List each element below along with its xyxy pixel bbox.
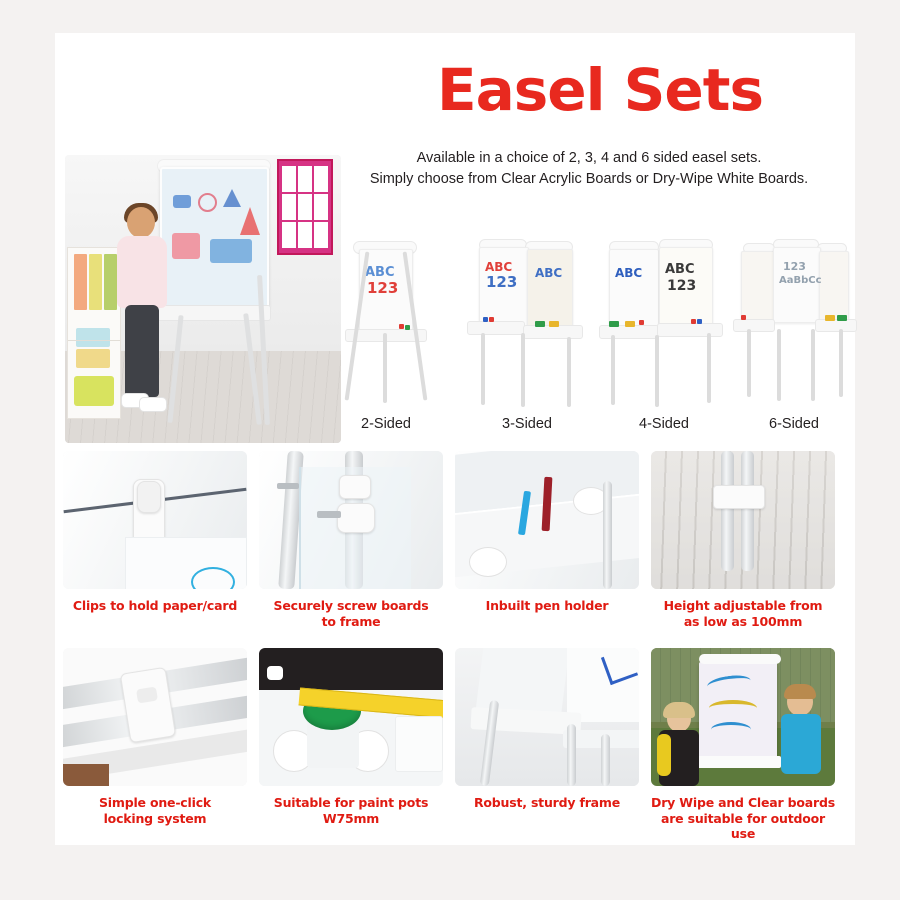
feature-caption: Dry Wipe and Clear boards are suitable f… <box>651 795 835 842</box>
easel-leg <box>567 337 571 407</box>
child-hair <box>784 684 816 699</box>
paint-stroke <box>711 722 751 737</box>
outdoor-child-right <box>779 688 825 786</box>
hero-wall-poster <box>277 159 333 255</box>
feature-photo <box>259 648 443 786</box>
easel-tray <box>599 325 659 339</box>
feature-caption: Robust, sturdy frame <box>455 795 639 811</box>
easel-leg <box>611 335 615 405</box>
paint-pot-hole <box>469 547 507 577</box>
feature-photo <box>63 451 247 589</box>
feature-screw-boards[interactable]: Securely screw boards to frame <box>259 451 443 629</box>
subtitle-line-1: Available in a choice of 2, 3, 4 and 6 s… <box>323 148 855 169</box>
easel-leg <box>383 333 387 403</box>
tray-compartment <box>395 716 443 772</box>
easel-tray <box>697 756 781 768</box>
board-text-123: 123 <box>486 275 517 291</box>
hero-file-box <box>74 254 87 310</box>
variant-image: ABC 123 ABC <box>465 221 589 416</box>
page-subtitle: Available in a choice of 2, 3, 4 and 6 s… <box>323 148 855 190</box>
paper-clip-grip <box>137 481 161 513</box>
variant-label: 3-Sided <box>465 416 589 432</box>
easel-tray <box>815 319 857 332</box>
board-text-side: ABC <box>535 267 562 280</box>
paint-stroke <box>709 700 757 716</box>
wood-detail <box>63 764 109 786</box>
hero-storage-tray <box>76 349 110 368</box>
board-text-aabbcc: AaBbCc <box>779 276 822 287</box>
easel-accessory <box>549 321 559 327</box>
hero-child <box>113 207 173 422</box>
board-text-abc: ABC <box>365 266 395 280</box>
board-text-123: 123 <box>667 279 696 294</box>
feature-caption: Securely screw boards to frame <box>259 598 443 629</box>
easel-accessory <box>483 317 488 322</box>
feature-clips[interactable]: Clips to hold paper/card <box>63 451 247 614</box>
feature-photo <box>651 648 835 786</box>
hero-easel-tray <box>157 305 271 321</box>
board-text-abc: ABC <box>485 261 512 274</box>
drawing-on-paper <box>191 567 235 589</box>
hero-section: Easel Sets Available in a choice of 2, 3… <box>55 33 855 453</box>
easel-accessory <box>625 321 635 327</box>
child-sleeve <box>657 734 671 776</box>
easel-accessory <box>825 315 835 321</box>
child-trousers <box>125 305 159 397</box>
hero-photo <box>65 155 341 443</box>
feature-photo <box>455 451 639 589</box>
feature-grid: Clips to hold paper/card <box>55 451 855 845</box>
easel-leg <box>721 451 734 571</box>
board-text-abc-dark: ABC <box>665 263 695 277</box>
easel-accessory <box>405 325 410 330</box>
screw-knob <box>337 503 375 533</box>
dark-board-edge <box>259 648 443 690</box>
feature-paint-pots[interactable]: Suitable for paint pots W75mm <box>259 648 443 826</box>
easel-accessory <box>639 320 644 325</box>
board-text-abc: ABC <box>615 267 642 280</box>
easel-accessory <box>741 315 746 320</box>
easel-tray <box>467 321 525 335</box>
easel-leg <box>521 333 525 407</box>
easel-leg <box>603 481 612 589</box>
child-head <box>127 207 155 238</box>
easel-accessory <box>837 315 847 321</box>
easel-top-bar <box>699 654 781 664</box>
variant-2-sided[interactable]: ABC 123 2-Sided <box>331 221 441 432</box>
variant-label: 2-Sided <box>331 416 441 432</box>
easel-leg <box>567 724 576 786</box>
hero-storage-tray <box>76 328 110 347</box>
height-adjust-collar <box>713 485 765 509</box>
variant-4-sided[interactable]: ABC ABC 123 4-Sided <box>599 221 729 432</box>
screw-thread <box>317 511 341 518</box>
board-mark <box>267 666 283 680</box>
easel-board <box>819 251 849 321</box>
product-feature-page: Easel Sets Available in a choice of 2, 3… <box>0 0 900 900</box>
variant-image: ABC ABC 123 <box>599 221 729 416</box>
feature-height-adjustable[interactable]: Height adjustable from as low as 100mm <box>651 451 835 629</box>
child-shirt <box>117 236 167 308</box>
feature-row-1: Clips to hold paper/card <box>55 451 855 648</box>
board-text-123: 123 <box>367 281 398 297</box>
feature-outdoor-use[interactable]: Dry Wipe and Clear boards are suitable f… <box>651 648 835 842</box>
variant-3-sided[interactable]: ABC 123 ABC 3-Sided <box>465 221 589 432</box>
variant-label: 6-Sided <box>733 416 855 432</box>
content-card: Easel Sets Available in a choice of 2, 3… <box>55 33 855 845</box>
hero-drawing <box>173 195 191 208</box>
page-title: Easel Sets <box>345 61 855 119</box>
easel-accessory <box>489 317 494 322</box>
easel-leg <box>811 329 815 401</box>
easel-tray <box>733 319 775 332</box>
easel-accessory <box>609 321 619 327</box>
easel-accessory <box>691 319 696 324</box>
hero-drawing <box>198 193 217 212</box>
feature-caption: Height adjustable from as low as 100mm <box>651 598 835 629</box>
hero-file-box <box>89 254 102 310</box>
variant-image: ABC 123 <box>331 221 441 416</box>
feature-sturdy-frame[interactable]: Robust, sturdy frame <box>455 648 639 811</box>
child-top <box>781 714 821 774</box>
subtitle-line-2: Simply choose from Clear Acrylic Boards … <box>323 169 855 190</box>
child-hair <box>663 702 695 718</box>
easel-leg <box>601 734 610 786</box>
hero-drawing <box>223 189 241 207</box>
easel-accessory <box>399 324 404 329</box>
easel-leg <box>707 333 711 403</box>
feature-row-2: Simple one-click locking system <box>55 648 855 845</box>
easel-leg <box>839 329 843 397</box>
outdoor-child-left <box>657 706 701 786</box>
easel-tray <box>657 323 723 337</box>
variant-image: 123 AaBbCc <box>733 221 855 416</box>
feature-caption: Inbuilt pen holder <box>455 598 639 614</box>
feature-photo <box>651 451 835 589</box>
easel-board <box>609 249 659 327</box>
easel-accessory <box>697 319 702 324</box>
feature-photo <box>455 648 639 786</box>
easel-leg <box>655 335 659 407</box>
hero-storage-tray <box>74 376 114 406</box>
variant-label: 4-Sided <box>599 416 729 432</box>
feature-locking-system[interactable]: Simple one-click locking system <box>63 648 247 826</box>
feature-pen-holder[interactable]: Inbuilt pen holder <box>455 451 639 614</box>
feature-caption: Clips to hold paper/card <box>63 598 247 614</box>
easel-leg <box>747 329 751 397</box>
easel-board <box>741 251 775 321</box>
easel-tray <box>523 325 583 339</box>
feature-caption: Simple one-click locking system <box>63 795 247 826</box>
screw-thread <box>277 483 299 489</box>
easel-accessory <box>535 321 545 327</box>
easel-variants: ABC 123 2-Sided <box>331 221 855 453</box>
feature-caption: Suitable for paint pots W75mm <box>259 795 443 826</box>
feature-photo <box>63 648 247 786</box>
child-shoe <box>139 397 167 412</box>
easel-leg <box>741 451 754 571</box>
hero-drawing <box>210 239 252 263</box>
easel-board <box>527 249 573 327</box>
easel-leg <box>777 329 781 401</box>
hero-drawing <box>172 233 200 259</box>
easel-leg <box>481 333 485 405</box>
feature-photo <box>259 451 443 589</box>
variant-6-sided[interactable]: 123 AaBbCc 6-Sided <box>733 221 855 432</box>
screw-knob <box>339 475 371 499</box>
board-text-123: 123 <box>783 261 806 273</box>
